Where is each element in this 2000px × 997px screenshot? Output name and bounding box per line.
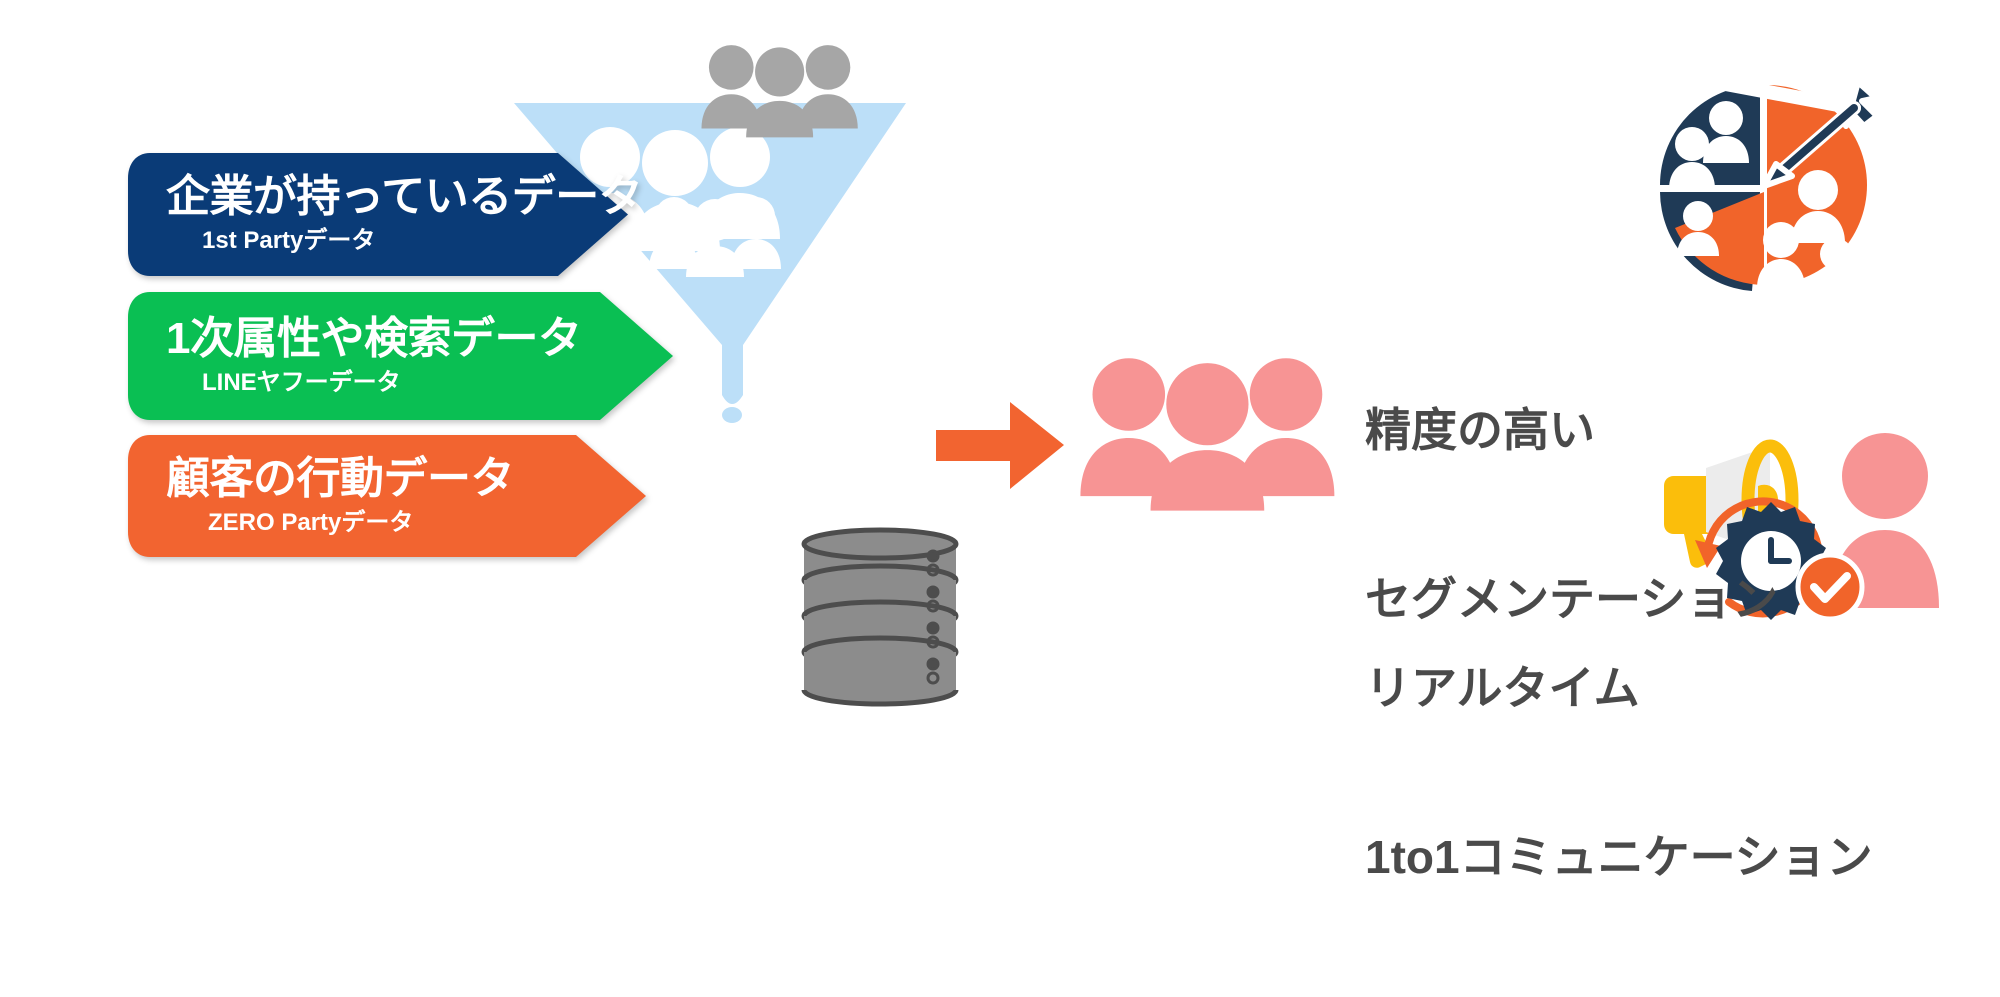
people-group-white-small-icon xyxy=(648,195,783,279)
outcome-line-1: リアルタイム xyxy=(1365,660,1873,716)
banner-subtitle: LINEヤフーデータ xyxy=(202,370,673,396)
banner-line-yahoo-data[interactable]: 1次属性や検索データ LINEヤフーデータ xyxy=(128,292,673,420)
banner-text-group: 1次属性や検索データ LINEヤフーデータ xyxy=(128,292,673,420)
outcome-line-2: 1to1コミュニケーション xyxy=(1365,829,1873,885)
banner-title: 企業が持っているデータ xyxy=(166,174,628,220)
banner-title: 顧客の行動データ xyxy=(166,456,646,502)
people-group-pink-icon xyxy=(1078,352,1338,512)
diagram-canvas: 企業が持っているデータ 1st Partyデータ 1次属性や検索データ LINE… xyxy=(0,0,2000,800)
banner-customer-behavior-data[interactable]: 顧客の行動データ ZERO Partyデータ xyxy=(128,435,646,557)
banner-title: 1次属性や検索データ xyxy=(166,316,673,362)
banner-subtitle: 1st Partyデータ xyxy=(202,228,628,254)
banner-text-group: 企業が持っているデータ 1st Partyデータ xyxy=(128,153,628,276)
people-group-gray-icon xyxy=(700,38,860,143)
outcome-line-1: 精度の高い xyxy=(1365,402,1778,458)
right-arrow-icon xyxy=(936,398,1066,493)
pie-segmentation-target-icon xyxy=(1640,68,1890,303)
banner-text-group: 顧客の行動データ ZERO Partyデータ xyxy=(128,435,646,557)
database-cylinder-icon xyxy=(800,528,960,713)
outcome-label-realtime: リアルタイム 1to1コミュニケーション xyxy=(1365,548,1873,997)
banner-enterprise-data[interactable]: 企業が持っているデータ 1st Partyデータ xyxy=(128,153,628,276)
banner-subtitle: ZERO Partyデータ xyxy=(208,510,646,536)
